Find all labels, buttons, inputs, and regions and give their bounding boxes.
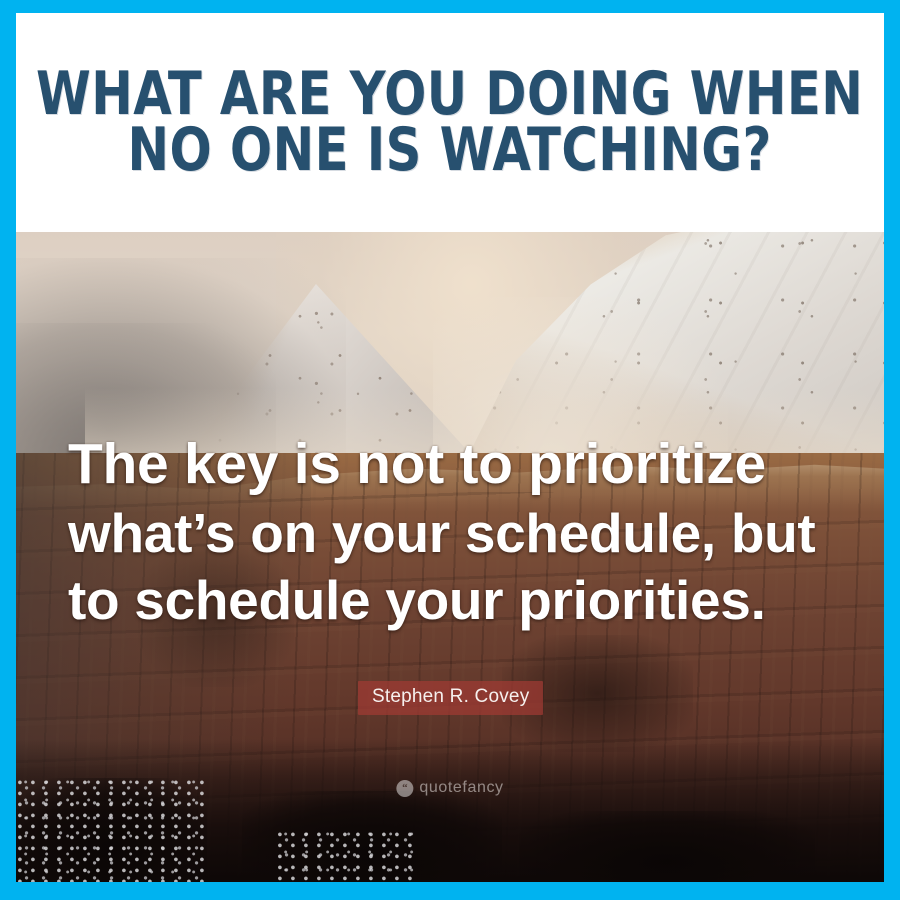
quote-line-3: to schedule your priorities. — [68, 567, 858, 634]
quotefancy-watermark: “ quotefancy — [396, 779, 503, 797]
quote-line-2: what’s on your schedule, but — [68, 500, 858, 567]
headline-line-2: NO ONE IS WATCHING? — [36, 123, 863, 178]
quote-card: WHAT ARE YOU DOING WHEN NO ONE IS WATCHI… — [0, 0, 900, 900]
quote-author-badge: Stephen R. Covey — [358, 681, 543, 715]
vegetation-clump — [519, 811, 814, 883]
snow-patch — [276, 830, 415, 882]
header-panel: WHAT ARE YOU DOING WHEN NO ONE IS WATCHI… — [16, 13, 884, 232]
mountain-photo: The key is not to prioritize what’s on y… — [16, 232, 884, 882]
quote-mark-icon: “ — [396, 780, 413, 797]
quote-author-label: Stephen R. Covey — [372, 686, 529, 707]
snow-patch — [16, 778, 207, 882]
quote-line-1: The key is not to prioritize — [68, 430, 858, 500]
watermark-label: quotefancy — [419, 779, 503, 797]
page-title: WHAT ARE YOU DOING WHEN NO ONE IS WATCHI… — [31, 67, 869, 177]
quote-text: The key is not to prioritize what’s on y… — [68, 430, 858, 634]
